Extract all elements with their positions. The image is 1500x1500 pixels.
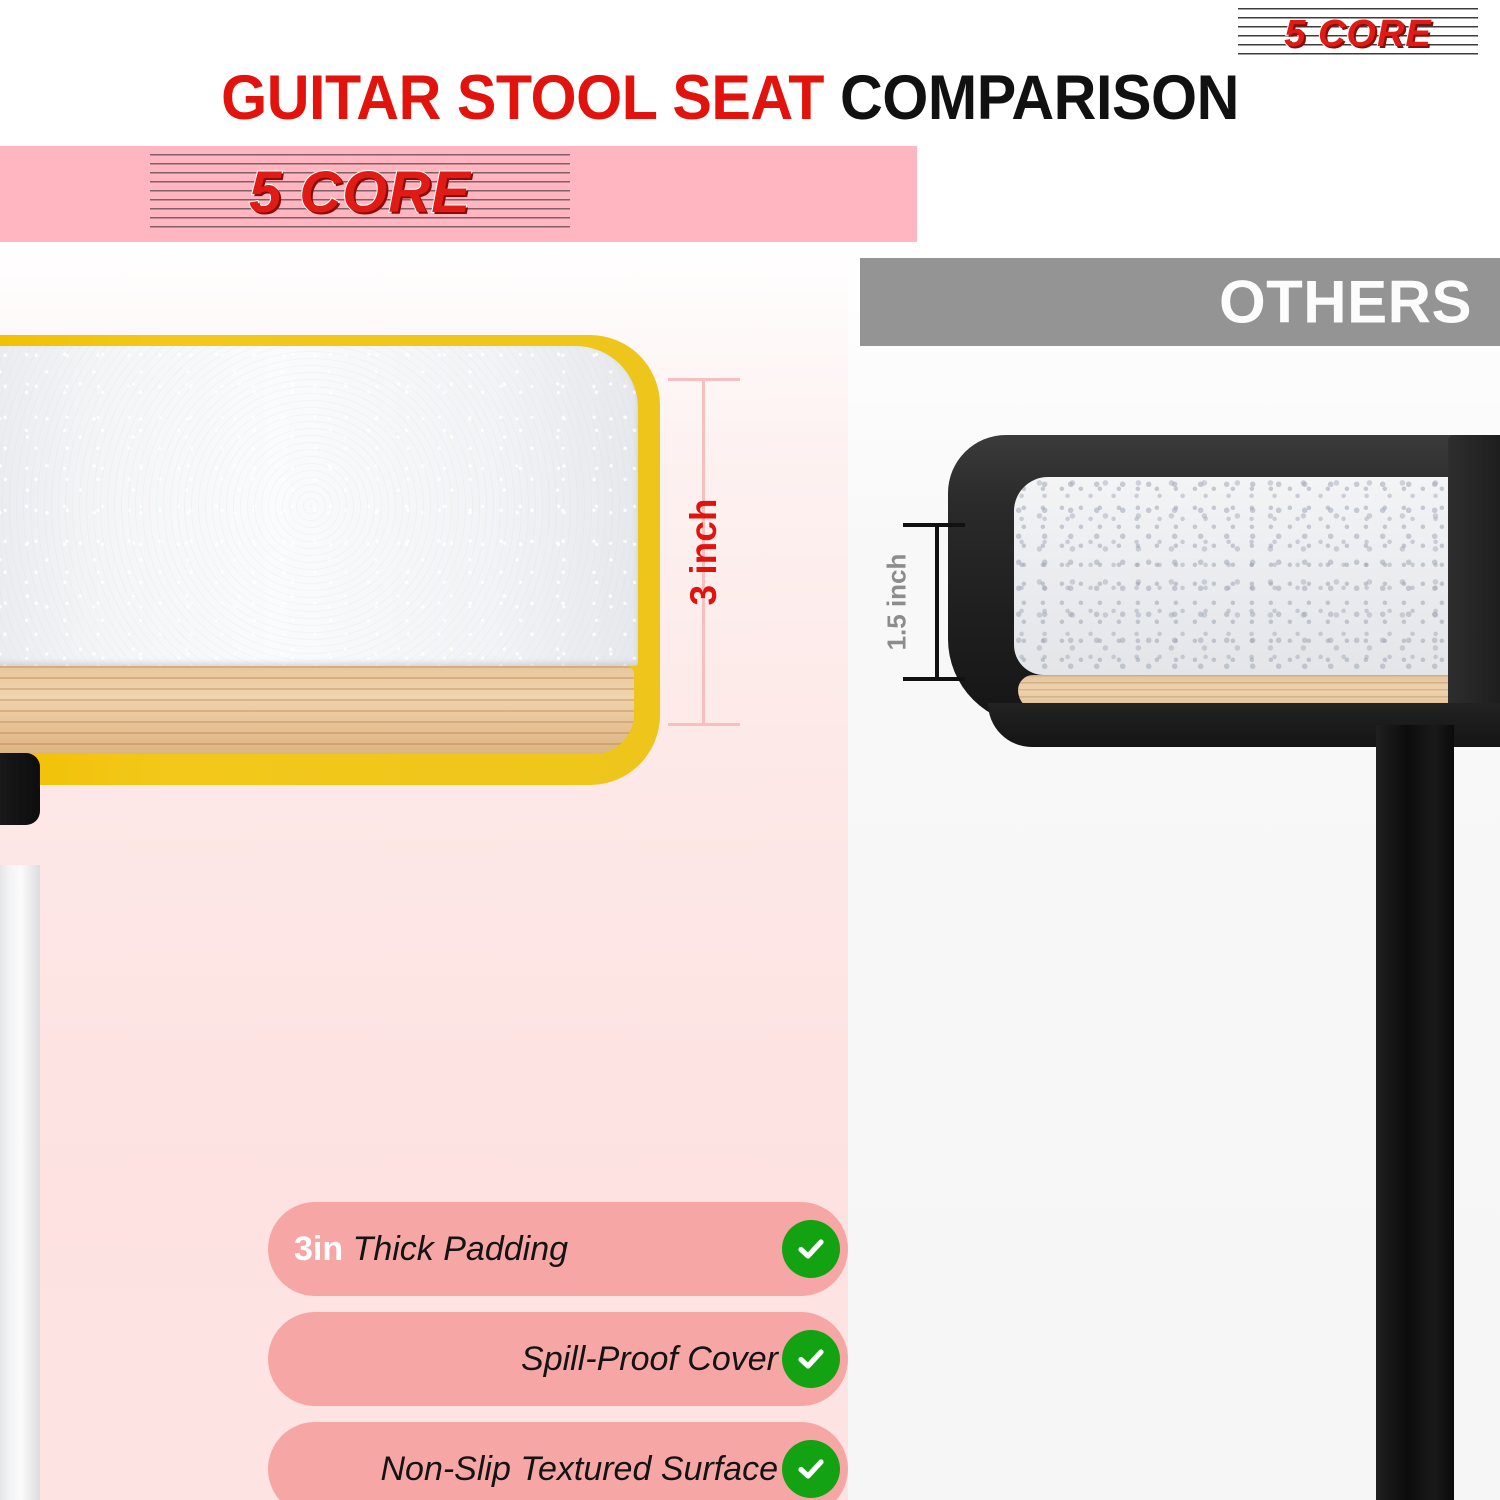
comparison-panel-5core: 3 inch 3in Thick PaddingSpill-Proof Cove…: [0, 240, 848, 1500]
product-photo-others-seat: [948, 435, 1500, 765]
feature-pill: Spill-Proof Cover: [268, 1312, 848, 1406]
others-banner: OTHERS: [860, 258, 1500, 346]
brand-logo-banner: 5 CORE: [150, 154, 570, 232]
check-icon: [794, 1232, 828, 1266]
measurement-bracket-1point5inch: 1.5 inch: [903, 523, 965, 681]
bracket-cap-bottom: [668, 723, 740, 726]
feature-pill: 3in Thick Padding: [268, 1202, 848, 1296]
brand-logo-banner-text: 5 CORE: [150, 154, 570, 232]
feature-pill: Non-Slip Textured Surface: [268, 1422, 848, 1500]
feature-list-5core: 3in Thick PaddingSpill-Proof CoverNon-Sl…: [268, 1202, 848, 1500]
check-icon: [794, 1342, 828, 1376]
seat-foam-padding-thin: [1014, 477, 1500, 675]
stool-leg-others: [1376, 725, 1454, 1500]
measurement-label-3inch: 3 inch: [683, 499, 725, 606]
measurement-label-1point5inch: 1.5 inch: [882, 554, 913, 651]
brand-logo-top: 5 CORE: [1238, 8, 1478, 60]
page-header: 5 CORE GUITAR STOOL SEAT COMPARISON 5 CO…: [0, 0, 1500, 255]
product-photo-5core-seat: [0, 335, 660, 785]
check-icon: [794, 1452, 828, 1486]
feature-pill-label: Spill-Proof Cover: [521, 1341, 778, 1378]
status-badge-check: [782, 1440, 840, 1498]
bracket-cap-bottom: [903, 677, 965, 681]
feature-highlight-value: 3in: [294, 1230, 343, 1268]
status-badge-check: [782, 1330, 840, 1388]
stool-leg-5core: [0, 865, 40, 1500]
page-title-red: GUITAR STOOL SEAT: [221, 63, 824, 133]
brand-banner-pink: 5 CORE: [0, 146, 917, 242]
seat-foam-padding: [0, 346, 638, 666]
bracket-cap-top: [903, 523, 965, 527]
seat-leg-cap: [0, 753, 40, 825]
feature-pill-label: 3in Thick Padding: [294, 1231, 568, 1268]
seat-wood-base: [0, 666, 634, 754]
comparison-panel-others: 1.5 inch Only 1.5in Of PaddingGets Damag…: [848, 240, 1500, 1500]
brand-logo-text: 5 CORE: [1238, 8, 1478, 60]
page-title-black: COMPARISON: [840, 63, 1239, 133]
bracket-line: [935, 523, 939, 681]
feature-pill-label: Non-Slip Textured Surface: [380, 1451, 778, 1488]
page-title: GUITAR STOOL SEAT COMPARISON: [44, 62, 1416, 134]
measurement-bracket-3inch: 3 inch: [668, 378, 740, 726]
seat-side-panel: [1448, 435, 1500, 735]
status-badge-check: [782, 1220, 840, 1278]
others-label: OTHERS: [1219, 268, 1472, 337]
